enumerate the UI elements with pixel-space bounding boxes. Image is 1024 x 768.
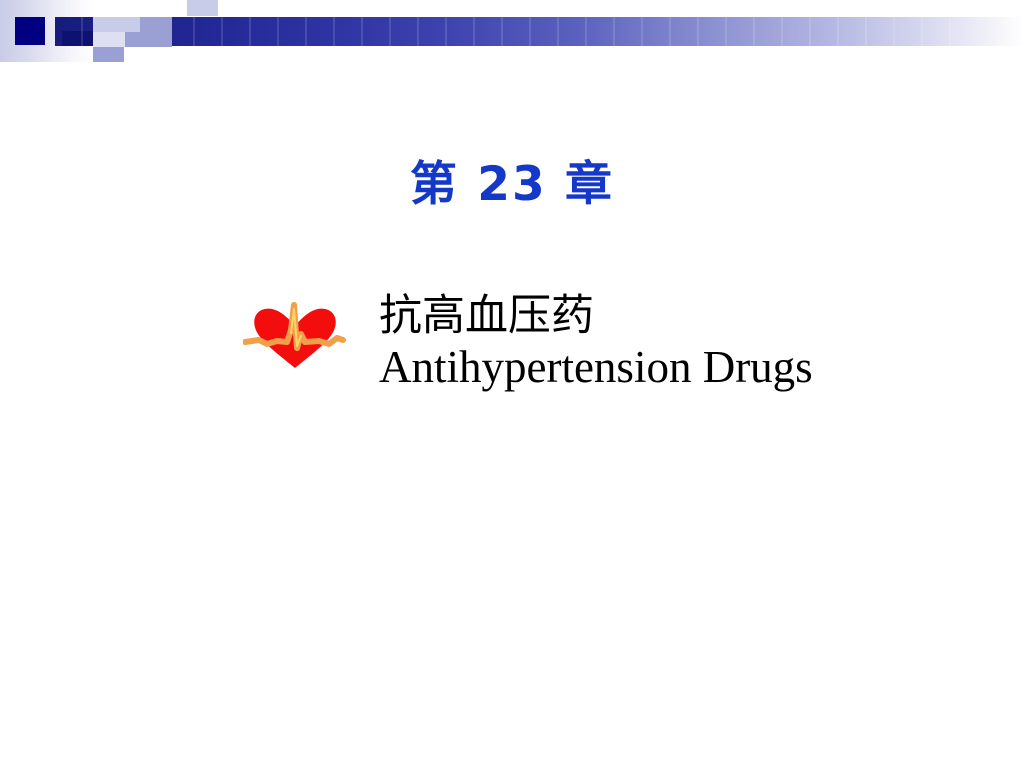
checker-square-paler-a — [93, 32, 125, 47]
subtitle-block: 抗高血压药 Antihypertension Drugs — [379, 292, 813, 394]
subtitle-english: Antihypertension Drugs — [379, 342, 813, 394]
content-block: 抗高血压药 Antihypertension Drugs — [243, 292, 1003, 394]
subtitle-chinese: 抗高血压药 — [379, 292, 813, 340]
checker-square-pale-a — [93, 17, 140, 32]
heart-ecg-icon — [243, 300, 347, 372]
checker-square-lav-b — [125, 32, 172, 47]
slide-canvas: 第 23 章 抗高血压药 Antihypertension Drugs — [0, 0, 1024, 768]
checker-square-navy — [15, 17, 45, 45]
chapter-title: 第 23 章 — [0, 158, 1024, 212]
checker-square-lav-c — [93, 47, 124, 62]
banner-gradient-bar — [55, 17, 1024, 46]
top-banner-decoration — [0, 0, 1024, 70]
checker-square-pale-top — [187, 0, 218, 16]
